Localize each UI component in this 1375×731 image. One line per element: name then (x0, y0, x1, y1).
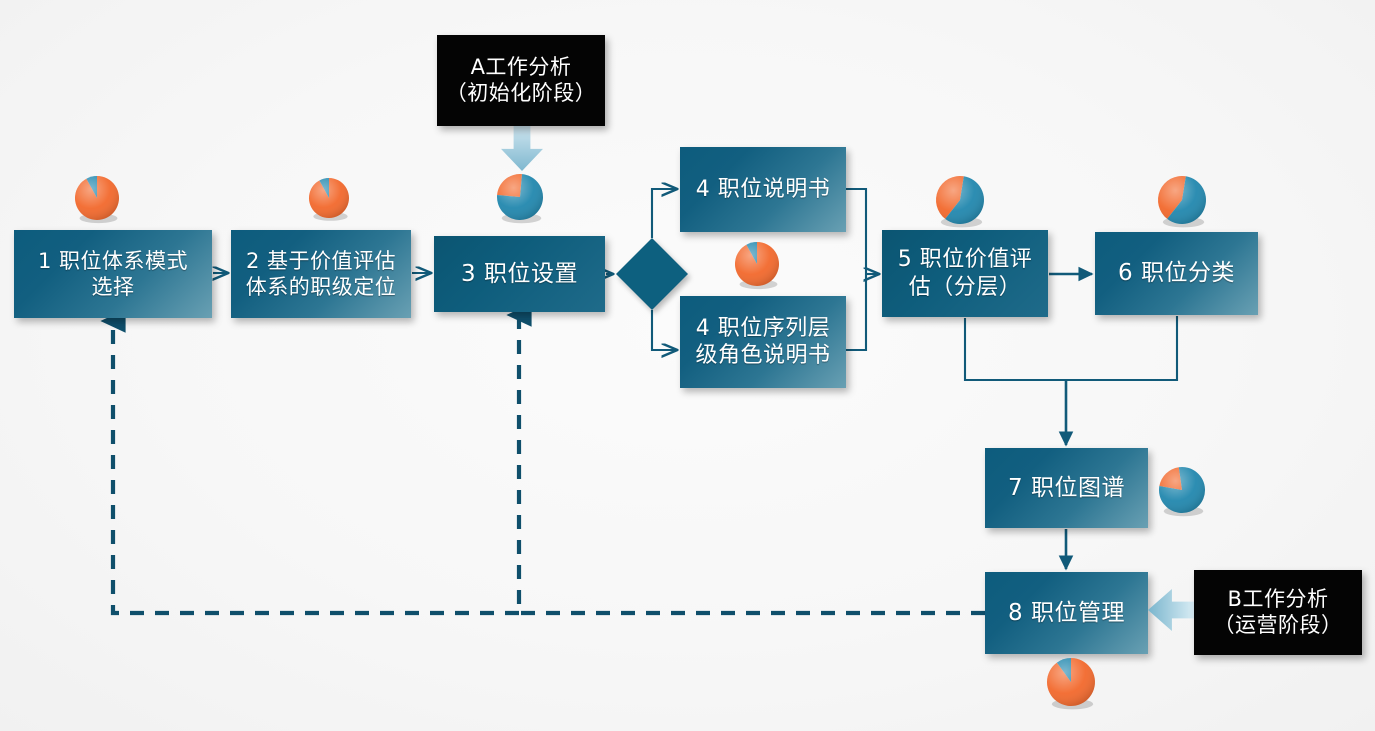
progress-pie-1 (75, 176, 119, 223)
progress-pie-7 (1159, 467, 1205, 516)
block-arrow-a-down (501, 125, 543, 171)
callout-phase-b[interactable]: B工作分析 （运营阶段） (1194, 570, 1362, 655)
progress-pie-6 (1158, 176, 1206, 227)
progress-pie-1-sheen (75, 176, 119, 220)
diagram-canvas: 1 职位体系模式 选择2 基于价值评估 体系的职级定位3 职位设置4 职位说明书… (0, 0, 1375, 731)
progress-pie-3 (497, 174, 543, 223)
progress-pie-4 (735, 242, 779, 289)
progress-pie-5 (936, 176, 984, 227)
callout-phase-a-label: A工作分析 （初始化阶段） (446, 55, 597, 106)
callout-phase-b-label: B工作分析 （运营阶段） (1214, 587, 1343, 638)
progress-pie-4-sheen (735, 242, 779, 286)
progress-pie-6-sheen (1158, 176, 1206, 224)
progress-pie-5-sheen (936, 176, 984, 224)
pie-layer (0, 0, 1375, 731)
callout-phase-a[interactable]: A工作分析 （初始化阶段） (437, 35, 605, 126)
progress-pie-3-sheen (497, 174, 543, 220)
progress-pie-2 (309, 178, 349, 221)
progress-pie-8-sheen (1047, 658, 1095, 706)
progress-pie-2-sheen (309, 178, 349, 218)
progress-pie-8 (1047, 658, 1095, 709)
block-arrow-b-left (1148, 589, 1194, 631)
progress-pie-7-sheen (1159, 467, 1205, 513)
